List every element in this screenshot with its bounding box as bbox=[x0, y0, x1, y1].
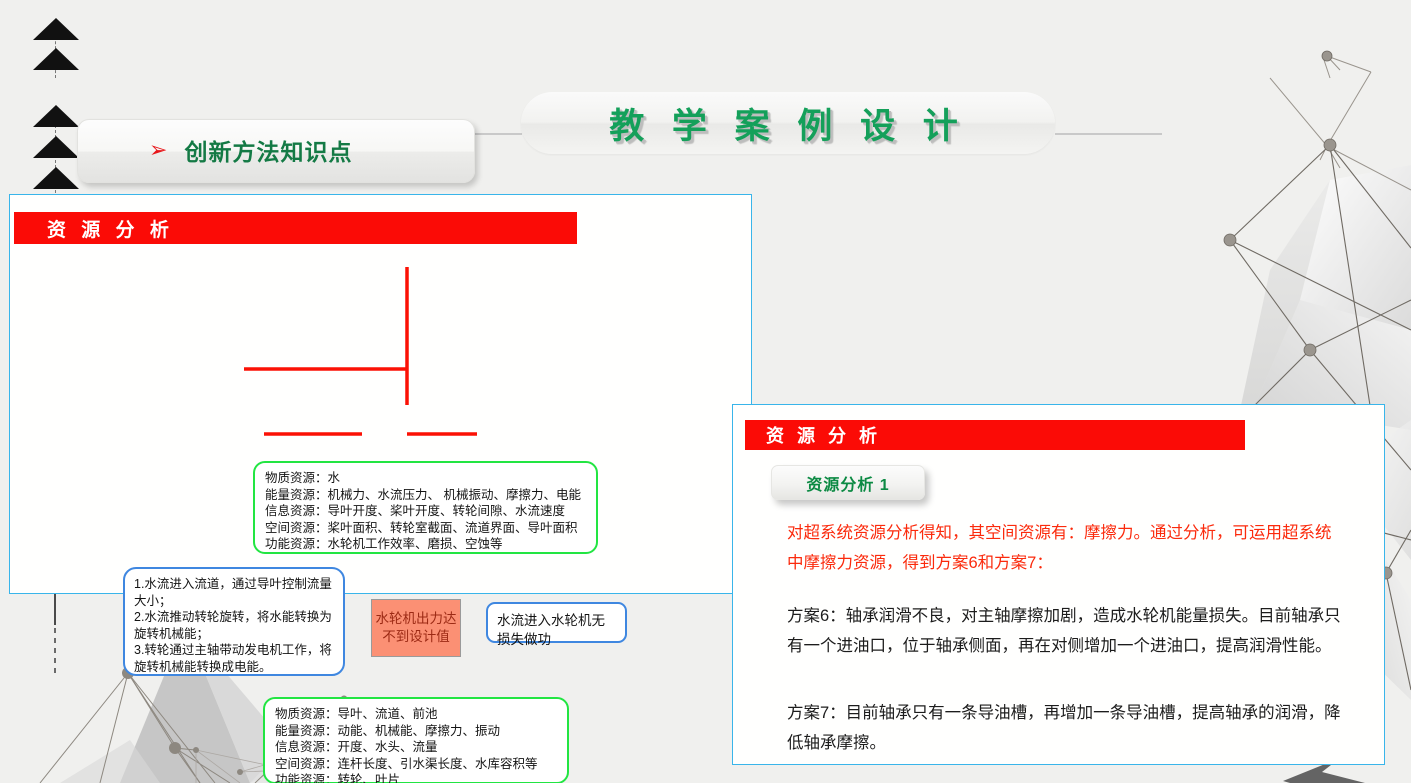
right-panel-paragraph-1: 方案6：轴承润滑不良，对主轴摩擦加剧，造成水轮机能量损失。目前轴承只有一个进油口… bbox=[787, 601, 1342, 661]
tab-resource-analysis-1-label: 资源分析 1 bbox=[806, 471, 889, 495]
mindmap-node-right: 水流进入水轮机无损失做功 bbox=[486, 602, 627, 643]
page-title: 教 学 案 例 设 计 bbox=[521, 92, 1055, 154]
mindmap-node-bottom: 物质资源：导叶、流道、前池 能量资源：动能、机械能、摩擦力、振动 信息资源：开度… bbox=[263, 697, 569, 783]
mindmap-node-left: 1.水流进入流道，通过导叶控制流量大小； 2.水流推动转轮旋转，将水能转换为旋转… bbox=[123, 567, 345, 676]
right-panel-banner-label: 资 源 分 析 bbox=[766, 422, 881, 448]
tab-resource-analysis-1[interactable]: 资源分析 1 bbox=[771, 465, 925, 500]
header-rule-right bbox=[1055, 133, 1162, 135]
subtitle-group: ➢ 创新方法知识点 bbox=[77, 119, 473, 181]
right-panel-highlight-text: 对超系统资源分析得知，其空间资源有：摩擦力。通过分析，可运用超系统中摩擦力资源，… bbox=[787, 518, 1332, 578]
mindmap: 物质资源：水 能量资源：机械力、水流压力、 机械振动、摩擦力、电能 信息资源：导… bbox=[9, 194, 750, 592]
right-panel-banner: 资 源 分 析 bbox=[745, 420, 1245, 450]
right-panel-paragraph-2: 方案7：目前轴承只有一条导油槽，再增加一条导油槽，提高轴承的润滑，降低轴承摩擦。 bbox=[787, 698, 1342, 758]
arrow-right-icon: ➢ bbox=[149, 139, 167, 161]
subtitle-label: 创新方法知识点 bbox=[184, 133, 352, 167]
header-rule-left bbox=[470, 133, 522, 135]
slide-canvas: 教 学 案 例 设 计 ➢ 创新方法知识点 资 源 分 析 物质资源：水 能量资… bbox=[0, 0, 1411, 783]
mindmap-node-center: 水轮机出力达不到设计值 bbox=[371, 599, 461, 657]
mindmap-node-top: 物质资源：水 能量资源：机械力、水流压力、 机械振动、摩擦力、电能 信息资源：导… bbox=[253, 461, 598, 554]
